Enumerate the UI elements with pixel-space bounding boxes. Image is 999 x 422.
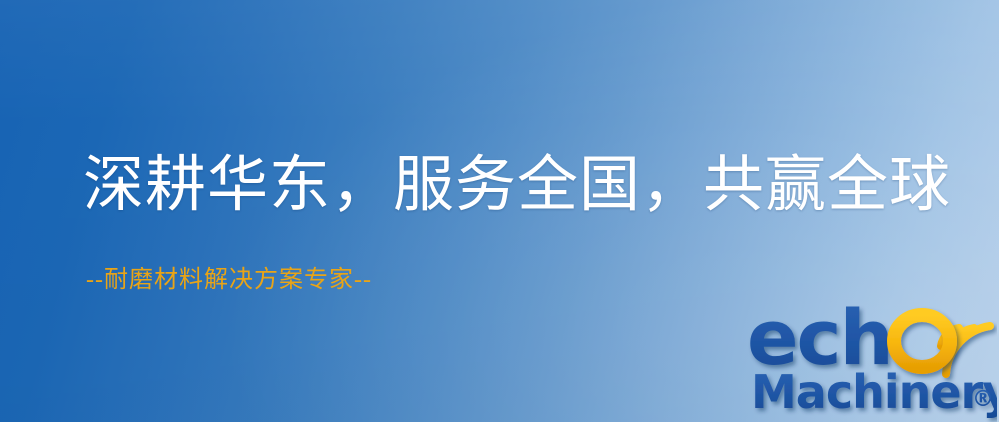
logo-wordmark-machinery: Machinery ® — [751, 365, 997, 419]
svg-text:Machinery: Machinery — [751, 365, 997, 419]
echo-machinery-logo[interactable]: ech Machinery ® — [745, 292, 997, 422]
logo-graphic: ech Machinery ® — [745, 292, 997, 422]
banner-subtitle: --耐磨材料解决方案专家-- — [86, 265, 372, 295]
registered-trademark-icon: ® — [972, 387, 994, 412]
promo-banner: 深耕华东，服务全国，共赢全球 --耐磨材料解决方案专家-- — [0, 0, 999, 422]
banner-headline: 深耕华东，服务全国，共赢全球 — [83, 152, 951, 220]
